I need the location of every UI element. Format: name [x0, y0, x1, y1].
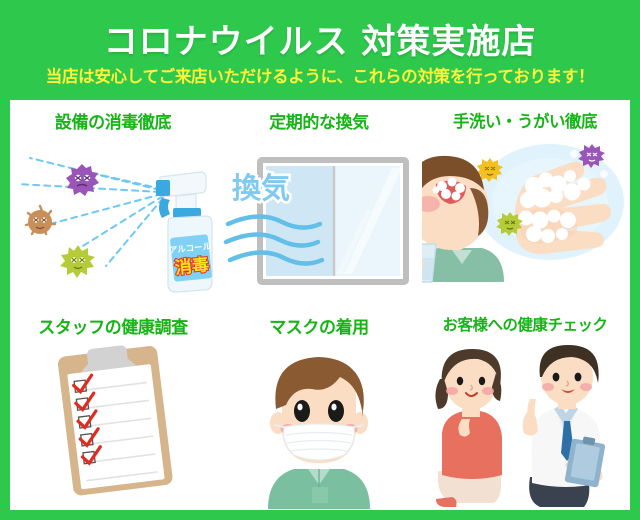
panel-wearing-mask: マスクの着用	[216, 305, 422, 510]
panel-regular-ventilation: 定期的な換気 換気	[216, 100, 422, 305]
doctor	[523, 345, 606, 507]
panel-handwashing-gargling: 手洗い・うがい徹底	[422, 100, 628, 305]
svg-text:消毒: 消毒	[174, 254, 210, 278]
eye-right	[328, 400, 344, 422]
germ-green	[60, 245, 95, 278]
panel-title-regular-ventilation: 定期的な換気	[216, 108, 422, 133]
germ-tan	[26, 206, 55, 234]
illustration-handwash-gargle	[422, 132, 628, 304]
panel-staff-health-survey: スタッフの健康調査	[10, 305, 216, 510]
panel-customer-health-check: お客様への健康チェック	[422, 305, 628, 510]
illustration-customer-and-doctor	[422, 337, 628, 509]
poster-root: コロナウイルス 対策実施店 当店は安心してご来店いただけるように、これらの対策を…	[0, 0, 640, 520]
panel-facility-disinfection: 設備の消毒徹底	[10, 100, 216, 305]
panel-title-wearing-mask: マスクの着用	[216, 313, 422, 338]
panel-title-handwashing-gargling: 手洗い・うがい徹底	[422, 108, 628, 132]
illustration-clipboard-checklist	[10, 337, 216, 509]
page-title: コロナウイルス 対策実施店	[0, 14, 640, 63]
illustration-person-with-mask	[216, 337, 422, 509]
poster-header: コロナウイルス 対策実施店 当店は安心してご来店いただけるように、これらの対策を…	[0, 0, 640, 100]
spray-bottle: アルコール 消毒	[156, 172, 212, 292]
illustration-window-airflow: 換気	[216, 132, 422, 304]
face-mask	[274, 424, 364, 460]
page-subtitle: 当店は安心してご来店いただけるように、これらの対策を行っております！	[0, 63, 640, 87]
panels-board: 設備の消毒徹底	[10, 100, 630, 510]
illustration-spray-bottle-germs: アルコール 消毒	[10, 132, 216, 304]
panel-title-customer-health-check: お客様への健康チェック	[422, 313, 628, 335]
eye-left	[294, 400, 310, 422]
panel-title-facility-disinfection: 設備の消毒徹底	[10, 108, 216, 133]
panel-title-staff-health-survey: スタッフの健康調査	[10, 313, 216, 338]
customer-woman	[435, 349, 502, 507]
airflow-label: 換気	[232, 171, 290, 205]
